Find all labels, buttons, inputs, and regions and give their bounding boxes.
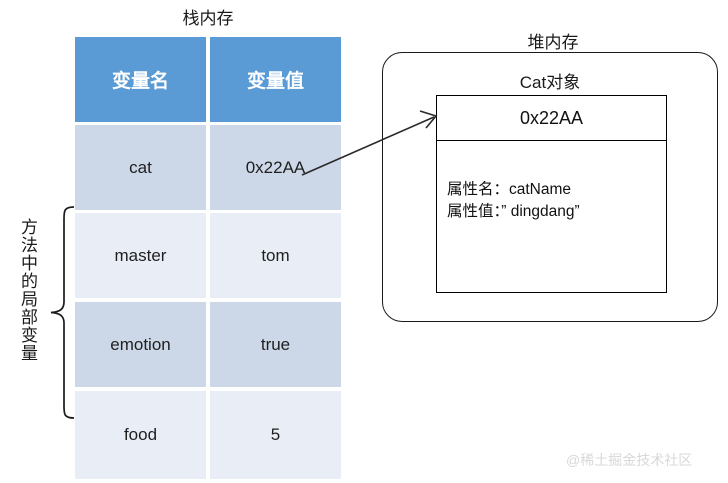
local-variables-label: 方法中的局部变量: [12, 218, 38, 362]
cell-variable-name: food: [75, 391, 206, 479]
watermark-text: @稀土掘金技术社区: [566, 450, 692, 470]
cell-variable-value: true: [210, 302, 341, 387]
curly-brace-icon: [48, 205, 76, 420]
property-name-line: 属性名：catName: [447, 179, 666, 201]
cat-object-box: 0x22AA 属性名：catName 属性值：” dingdang”: [436, 95, 667, 293]
stack-memory-title: 栈内存: [108, 4, 308, 29]
table-row: master tom: [75, 213, 341, 298]
object-properties: 属性名：catName 属性值：” dingdang”: [437, 141, 666, 223]
table-row: food 5: [75, 391, 341, 479]
reference-arrow-icon: [300, 95, 450, 185]
cell-variable-value: tom: [210, 213, 341, 298]
property-value-line: 属性值：” dingdang”: [447, 201, 666, 223]
cell-variable-name: cat: [75, 125, 206, 210]
diagram-canvas: 栈内存 变量名 变量值 cat 0x22AA master tom emotio…: [0, 0, 728, 483]
cell-variable-value: 5: [210, 391, 341, 479]
cat-object-label: Cat对象: [382, 68, 718, 93]
heap-memory-title: 堆内存: [453, 28, 653, 53]
table-row: emotion true: [75, 302, 341, 387]
cell-variable-name: emotion: [75, 302, 206, 387]
object-address: 0x22AA: [437, 96, 666, 141]
header-variable-name: 变量名: [75, 37, 206, 122]
cell-variable-name: master: [75, 213, 206, 298]
